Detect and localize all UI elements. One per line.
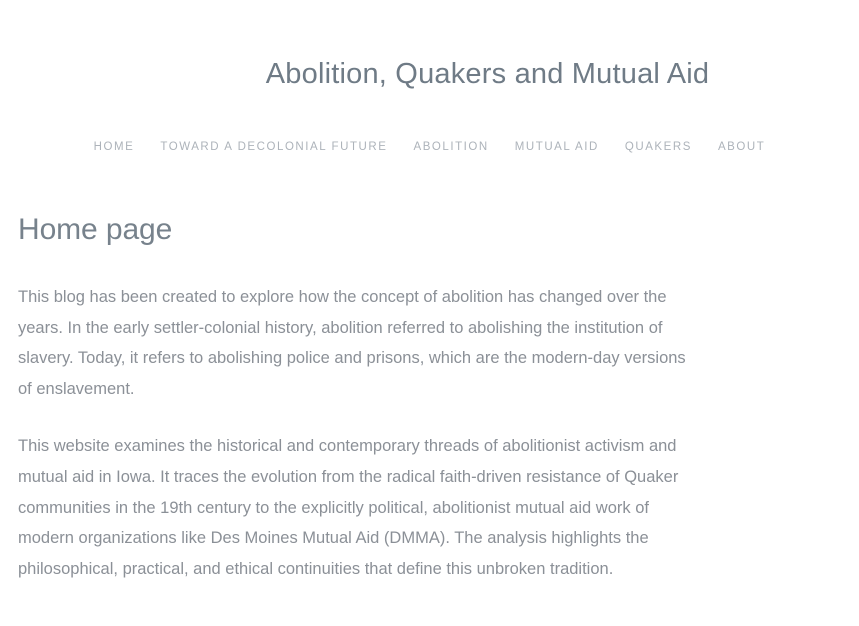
nav-link-toward-a-decolonial-future[interactable]: TOWARD A DECOLONIAL FUTURE [160, 141, 387, 153]
page-title: Home page [18, 212, 698, 248]
body-paragraph: This blog has been created to explore ho… [18, 282, 698, 404]
page-root: Abolition, Quakers and Mutual Aid HOME T… [0, 0, 859, 626]
nav-item-about[interactable]: ABOUT [718, 137, 765, 155]
nav-link-abolition[interactable]: ABOLITION [413, 141, 488, 153]
nav-item-toward-a-decolonial-future[interactable]: TOWARD A DECOLONIAL FUTURE [160, 137, 387, 155]
main-content: Home page This blog has been created to … [18, 212, 698, 584]
body-paragraph: This website examines the historical and… [18, 431, 698, 584]
site-header: Abolition, Quakers and Mutual Aid HOME T… [0, 0, 859, 172]
nav-item-home[interactable]: HOME [94, 137, 135, 155]
nav-item-quakers[interactable]: QUAKERS [625, 137, 692, 155]
nav-list: HOME TOWARD A DECOLONIAL FUTURE ABOLITIO… [94, 137, 766, 155]
site-title: Abolition, Quakers and Mutual Aid [0, 57, 859, 91]
nav-link-mutual-aid[interactable]: MUTUAL AID [515, 141, 599, 153]
nav-item-abolition[interactable]: ABOLITION [413, 137, 488, 155]
nav-link-about[interactable]: ABOUT [718, 141, 765, 153]
primary-navigation: HOME TOWARD A DECOLONIAL FUTURE ABOLITIO… [0, 136, 859, 156]
nav-link-home[interactable]: HOME [94, 141, 135, 153]
nav-item-mutual-aid[interactable]: MUTUAL AID [515, 137, 599, 155]
nav-link-quakers[interactable]: QUAKERS [625, 141, 692, 153]
